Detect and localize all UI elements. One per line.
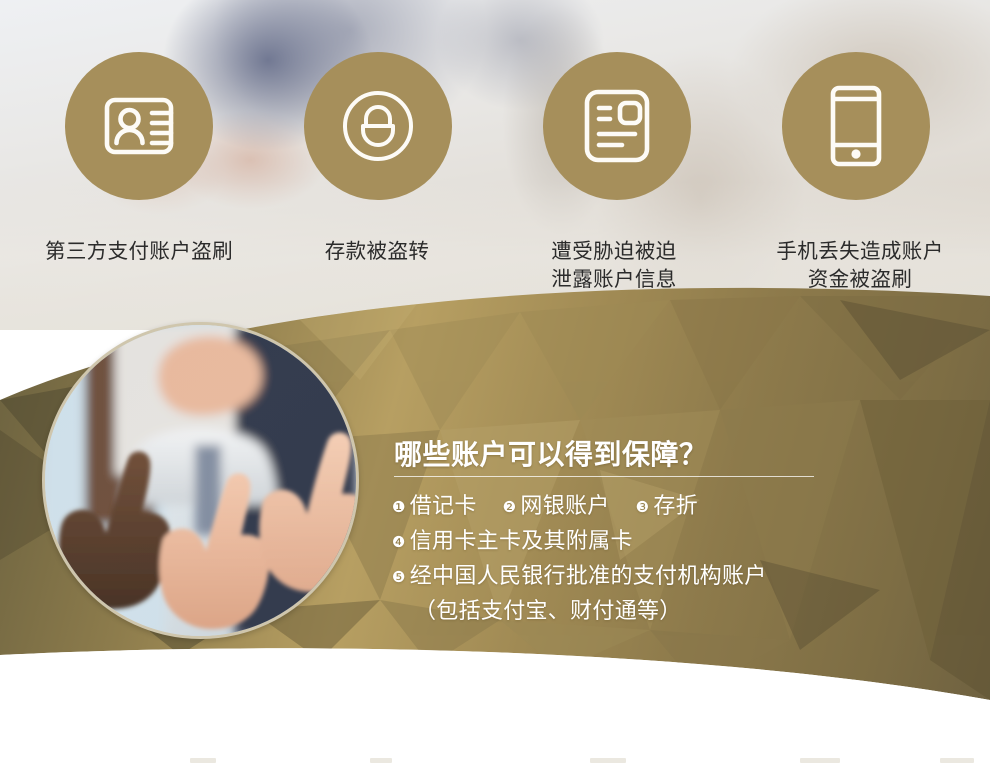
list-item-continuation: （包括支付宝、财付通等） <box>414 594 982 627</box>
list-item-label: 信用卡主卡及其附属卡 <box>410 528 633 553</box>
list-item: ❺经中国人民银行批准的支付机构账户 <box>392 559 982 594</box>
feature-label-4: 手机丢失造成账户 资金被盗刷 <box>730 238 990 294</box>
title-divider <box>394 476 814 477</box>
list-item-label: 经中国人民银行批准的支付机构账户 <box>410 563 767 588</box>
cutoff-mark <box>940 758 974 763</box>
list-number: ❶ <box>392 499 406 516</box>
cutoff-mark <box>590 758 626 763</box>
feature-circle-4 <box>782 52 930 200</box>
feature-circle-2 <box>304 52 452 200</box>
lock-circle-icon <box>336 84 420 168</box>
list-item: ❸存折 <box>636 489 698 524</box>
mobile-phone-icon <box>824 82 888 170</box>
covered-accounts-list: ❶借记卡 ❷网银账户 ❸存折 ❹信用卡主卡及其附属卡 ❺经中国人民银行批准的支付… <box>392 489 982 627</box>
list-item: ❷网银账户 <box>503 489 610 524</box>
list-item-label: 借记卡 <box>410 493 477 518</box>
list-number: ❹ <box>392 534 406 551</box>
id-card-icon <box>100 87 178 165</box>
list-item-label: 存折 <box>653 493 698 518</box>
feature-circle-3 <box>543 52 691 200</box>
cutoff-mark <box>800 758 840 763</box>
promo-poster: 第三方支付账户盗刷 存款被盗转 遭受胁迫被迫 泄露账户信息 手机丢失造成账户 资… <box>0 0 990 767</box>
cutoff-mark <box>190 758 216 763</box>
feature-label-3: 遭受胁迫被迫 泄露账户信息 <box>492 238 736 294</box>
document-form-icon <box>578 85 656 167</box>
feature-label-1: 第三方支付账户盗刷 <box>0 238 278 266</box>
three-thumbs-up-photo <box>42 322 359 639</box>
list-item: ❹信用卡主卡及其附属卡 <box>392 524 982 559</box>
list-number: ❷ <box>503 499 517 516</box>
feature-circle-1 <box>65 52 213 200</box>
list-item: ❶借记卡 <box>392 489 477 524</box>
list-number: ❸ <box>636 499 650 516</box>
list-item-label: 网银账户 <box>520 493 609 518</box>
cutoff-mark <box>370 758 392 763</box>
page-title: 哪些账户可以得到保障？ <box>394 433 708 473</box>
list-row-inline: ❶借记卡 ❷网银账户 ❸存折 <box>392 489 982 524</box>
feature-label-2: 存款被盗转 <box>252 238 502 266</box>
list-number: ❺ <box>392 569 406 586</box>
